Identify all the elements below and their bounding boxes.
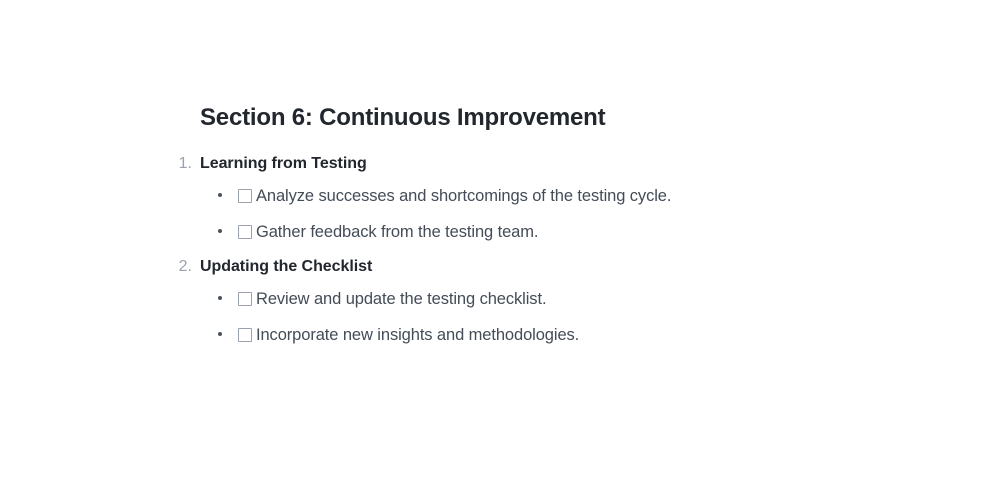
list-item: Gather feedback from the testing team. xyxy=(218,222,876,243)
checkbox-unchecked-icon[interactable] xyxy=(238,189,252,203)
list-item-title: Updating the Checklist xyxy=(200,258,372,276)
document-page: Section 6: Continuous Improvement 1. Lea… xyxy=(0,0,1000,488)
bullet-icon xyxy=(218,296,222,300)
checklist-numbered-list: 1. Learning from Testing Analyze success… xyxy=(176,155,876,346)
checkbox-unchecked-icon[interactable] xyxy=(238,225,252,239)
numbered-item-heading: 2. Updating the Checklist xyxy=(176,258,876,276)
bullet-icon xyxy=(218,229,222,233)
list-item: Review and update the testing checklist. xyxy=(218,289,876,310)
list-number-marker: 1. xyxy=(176,155,192,173)
bullet-icon xyxy=(218,332,222,336)
checkbox-label: Incorporate new insights and methodologi… xyxy=(256,325,579,346)
bullet-icon xyxy=(218,193,222,197)
list-item: 2. Updating the Checklist Review and upd… xyxy=(176,258,876,346)
list-item-title: Learning from Testing xyxy=(200,155,367,173)
checkbox-sublist: Analyze successes and shortcomings of th… xyxy=(176,186,876,243)
checkbox-label: Analyze successes and shortcomings of th… xyxy=(256,186,671,207)
checkbox-unchecked-icon[interactable] xyxy=(238,292,252,306)
list-item: Analyze successes and shortcomings of th… xyxy=(218,186,876,207)
list-number-marker: 2. xyxy=(176,258,192,276)
list-item: Incorporate new insights and methodologi… xyxy=(218,325,876,346)
list-item: 1. Learning from Testing Analyze success… xyxy=(176,155,876,243)
checkbox-label: Gather feedback from the testing team. xyxy=(256,222,538,243)
checkbox-unchecked-icon[interactable] xyxy=(238,328,252,342)
numbered-item-heading: 1. Learning from Testing xyxy=(176,155,876,173)
document-content: Section 6: Continuous Improvement 1. Lea… xyxy=(176,104,876,361)
page-title: Section 6: Continuous Improvement xyxy=(200,104,876,133)
checkbox-label: Review and update the testing checklist. xyxy=(256,289,546,310)
checkbox-sublist: Review and update the testing checklist.… xyxy=(176,289,876,346)
